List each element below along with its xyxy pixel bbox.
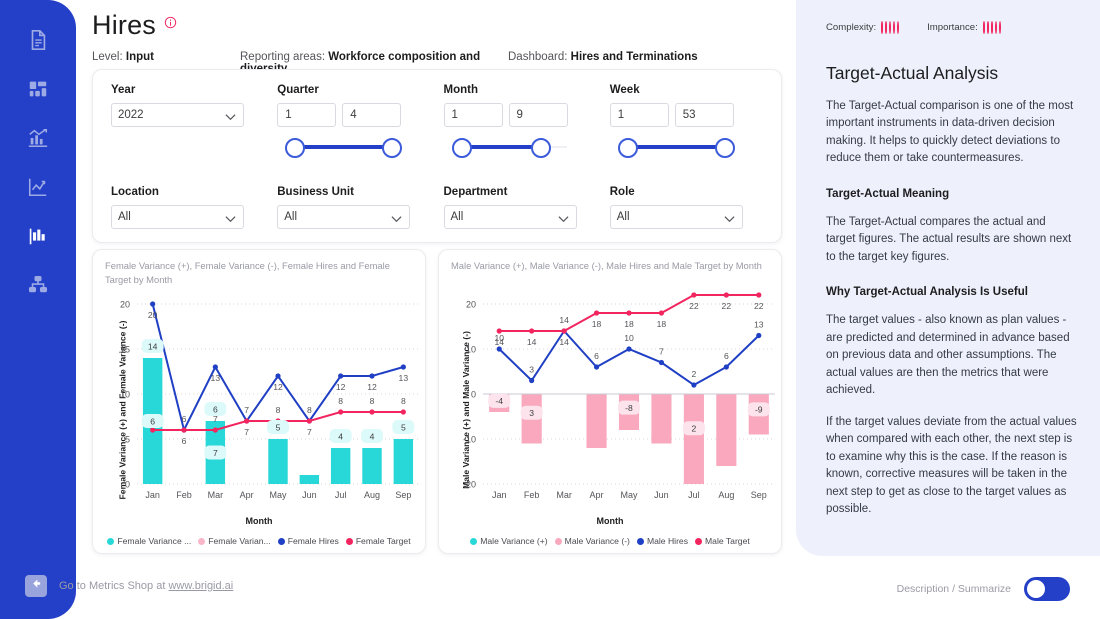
svg-text:20: 20 [466,300,476,310]
metrics-shop-link[interactable]: www.brigid.ai [168,580,233,592]
svg-text:7: 7 [307,427,312,437]
svg-text:2: 2 [691,369,696,379]
svg-text:6: 6 [594,351,599,361]
svg-text:Mar: Mar [208,490,224,500]
svg-text:6: 6 [182,436,187,446]
month-slider-knob-max[interactable] [531,138,551,158]
chevron-down-icon [225,112,236,124]
description-summarize-label: Description / Summarize [897,583,1011,595]
svg-text:Aug: Aug [718,490,734,500]
back-button[interactable] [25,575,47,597]
svg-text:Aug: Aug [364,490,380,500]
complexity-rating: Complexity: [826,22,901,33]
svg-text:Apr: Apr [240,490,254,500]
chart-card-male: Male Variance (+), Male Variance (-), Ma… [438,249,782,554]
filter-role: Role All [610,186,763,243]
metrics-shop-text: Go to Metrics Shop at www.brigid.ai [59,580,233,592]
slider-fill [462,145,541,149]
svg-text:7: 7 [659,347,664,357]
chart-title-male: Male Variance (+), Male Variance (-), Ma… [451,259,771,273]
svg-text:Feb: Feb [176,490,192,500]
legend-label: Male Hires [647,536,688,546]
rating-pip [987,21,989,34]
svg-text:May: May [269,490,287,500]
svg-text:22: 22 [754,301,764,311]
svg-text:20: 20 [148,310,158,320]
svg-text:14: 14 [559,337,569,347]
svg-text:5: 5 [401,422,406,432]
year-value: 2022 [118,109,144,121]
legend-swatch [278,538,285,545]
svg-text:4: 4 [370,431,375,441]
legend-label: Female Variance ... [117,536,191,546]
rating-pip [897,21,899,34]
filter-role-label: Role [610,186,763,198]
legend-item[interactable]: Male Variance (+) [470,536,547,546]
sidebar-item-dashboard[interactable] [16,67,60,111]
department-value: All [451,211,464,223]
filter-year: Year 2022 [111,84,264,176]
svg-text:12: 12 [367,382,377,392]
rating-pip [881,21,883,34]
svg-text:10: 10 [466,345,476,355]
sidebar [0,0,76,619]
svg-text:-20: -20 [463,480,476,490]
svg-text:Jun: Jun [654,490,669,500]
filter-year-label: Year [111,84,264,96]
legend-item[interactable]: Female Target [346,536,411,546]
complexity-pips [881,22,901,33]
slider-fill [628,145,725,149]
sidebar-item-hierarchy[interactable] [16,263,60,307]
svg-text:15: 15 [120,345,130,355]
filter-department: Department All [444,186,597,243]
panel-title: Target-Actual Analysis [826,63,1078,84]
back-arrow-icon [30,577,43,595]
chart-legend-male: Male Variance (+)Male Variance (-)Male H… [439,536,781,546]
sidebar-item-line-chart[interactable] [16,165,60,209]
svg-text:0: 0 [471,390,476,400]
legend-item[interactable]: Male Hires [637,536,688,546]
sidebar-item-document[interactable] [16,18,60,62]
sidebar-item-bar-trend[interactable] [16,116,60,160]
slider-fill [295,145,392,149]
bar-chart-icon [27,225,49,247]
legend-swatch [637,538,644,545]
week-slider-knob-min[interactable] [618,138,638,158]
year-select[interactable]: 2022 [111,103,244,127]
legend-swatch [198,538,205,545]
month-slider[interactable] [444,132,577,162]
svg-text:8: 8 [370,396,375,406]
panel-paragraph-2: The Target-Actual compares the actual an… [826,214,1078,266]
chevron-down-icon [391,214,402,226]
svg-text:5: 5 [125,435,130,445]
svg-text:-8: -8 [625,403,633,413]
info-icon[interactable] [164,16,177,34]
week-max-input[interactable]: 53 [675,103,734,127]
svg-text:10: 10 [120,390,130,400]
panel-heading-3: Why Target-Actual Analysis Is Useful [826,286,1078,298]
legend-label: Female Hires [288,536,339,546]
chart-card-female: Female Variance (+), Female Variance (-)… [92,249,426,554]
month-min-input[interactable]: 1 [444,103,503,127]
svg-text:20: 20 [120,300,130,310]
location-value: All [118,211,131,223]
metrics-shop-prefix: Go to Metrics Shop at [59,580,168,592]
legend-label: Female Target [356,536,411,546]
chart-legend-female: Female Variance ...Female Varian...Femal… [93,536,425,546]
filter-business-unit: Business Unit All [277,186,430,243]
svg-text:22: 22 [689,301,699,311]
svg-text:0: 0 [125,480,130,490]
filter-location: Location All [111,186,264,243]
filter-month-label: Month [444,84,597,96]
legend-swatch [346,538,353,545]
filter-department-label: Department [444,186,597,198]
role-value: All [617,211,630,223]
svg-text:7: 7 [213,448,218,458]
description-summarize-toggle[interactable] [1024,577,1070,601]
svg-text:10: 10 [624,333,634,343]
filter-quarter: Quarter 1 4 [277,84,430,176]
filter-business-unit-label: Business Unit [277,186,430,198]
legend-swatch [470,538,477,545]
month-max-input[interactable]: 9 [509,103,568,127]
bar-chart-trend-icon [27,127,49,149]
rating-pip [889,21,891,34]
filter-location-label: Location [111,186,264,198]
x-axis-label-female: Month [93,516,425,526]
svg-text:13: 13 [754,320,764,330]
svg-text:Sep: Sep [751,490,767,500]
quarter-slider-knob-max[interactable] [382,138,402,158]
page-title: Hires [92,10,156,41]
svg-text:14: 14 [527,337,537,347]
legend-swatch [107,538,114,545]
quarter-slider-knob-min[interactable] [285,138,305,158]
svg-text:May: May [620,490,638,500]
week-slider-knob-max[interactable] [715,138,735,158]
svg-text:7: 7 [244,427,249,437]
chevron-down-icon [225,214,236,226]
svg-text:8: 8 [401,396,406,406]
footer-right: Description / Summarize [897,577,1070,601]
filter-week-label: Week [610,84,763,96]
business-unit-value: All [284,211,297,223]
legend-swatch [695,538,702,545]
footer-left: Go to Metrics Shop at www.brigid.ai [25,575,233,597]
panel-paragraph-4: If the target values deviate from the ac… [826,414,1078,519]
svg-text:Jan: Jan [145,490,160,500]
location-select[interactable]: All [111,205,244,229]
toggle-knob [1027,580,1045,598]
legend-item[interactable]: Female Variance ... [107,536,191,546]
hierarchy-icon [27,274,49,296]
svg-text:6: 6 [213,404,218,414]
legend-label: Male Variance (+) [480,536,547,546]
filter-panel: Year 2022 Quarter 1 4 [92,69,782,243]
filter-month: Month 1 9 [444,84,597,176]
rating-pip [995,21,997,34]
x-axis-label-male: Month [439,516,781,526]
svg-text:7: 7 [244,405,249,415]
svg-text:Jul: Jul [688,490,700,500]
svg-text:6: 6 [724,351,729,361]
panel-paragraph-3: The target values - also known as plan v… [826,312,1078,399]
week-min-input[interactable]: 1 [610,103,669,127]
panel-heading-2: Target-Actual Meaning [826,188,1078,200]
legend-item[interactable]: Male Target [695,536,750,546]
filter-week: Week 1 53 [610,84,763,176]
quarter-slider[interactable] [277,132,410,162]
svg-text:13: 13 [211,373,221,383]
svg-text:18: 18 [592,319,602,329]
panel-paragraph-1: The Target-Actual comparison is one of t… [826,98,1078,168]
complexity-label: Complexity: [826,22,876,33]
chevron-down-icon [724,214,735,226]
importance-pips [983,22,1003,33]
legend-item[interactable]: Female Varian... [198,536,270,546]
quarter-max-input[interactable]: 4 [342,103,401,127]
svg-text:13: 13 [399,373,409,383]
info-panel: Complexity: Importance: Target-Actual An… [796,0,1100,556]
svg-text:Jan: Jan [492,490,507,500]
svg-text:3: 3 [529,408,534,418]
svg-text:22: 22 [722,301,732,311]
svg-text:-4: -4 [495,396,503,406]
document-icon [27,29,49,51]
svg-text:Apr: Apr [590,490,604,500]
filter-quarter-label: Quarter [277,84,430,96]
sidebar-item-bar-chart[interactable] [16,214,60,258]
svg-text:Jun: Jun [302,490,317,500]
svg-text:8: 8 [307,405,312,415]
legend-item[interactable]: Female Hires [278,536,339,546]
legend-label: Male Variance (-) [565,536,630,546]
svg-text:12: 12 [273,382,283,392]
svg-text:3: 3 [529,365,534,375]
role-select[interactable]: All [610,205,743,229]
chart-title-female: Female Variance (+), Female Variance (-)… [105,259,415,286]
svg-text:18: 18 [657,319,667,329]
chart-plot-female[interactable]: 0510152020613712712121366778888814667544… [93,290,427,510]
svg-text:6: 6 [150,416,155,426]
rating-pip [991,21,993,34]
rating-pip [885,21,887,34]
svg-text:14: 14 [148,341,158,351]
svg-text:Mar: Mar [556,490,572,500]
legend-item[interactable]: Male Variance (-) [555,536,630,546]
svg-text:18: 18 [624,319,634,329]
importance-label: Importance: [927,22,978,33]
legend-swatch [555,538,562,545]
week-slider[interactable] [610,132,743,162]
svg-text:4: 4 [338,431,343,441]
svg-text:6: 6 [182,414,187,424]
svg-text:14: 14 [494,337,504,347]
svg-text:5: 5 [276,422,281,432]
legend-label: Female Varian... [208,536,270,546]
rating-pip [983,21,985,34]
legend-label: Male Target [705,536,750,546]
svg-text:Sep: Sep [395,490,411,500]
rating-pip [999,21,1001,34]
month-slider-knob-min[interactable] [452,138,472,158]
dashboard-grid-icon [27,78,49,100]
importance-rating: Importance: [927,22,1003,33]
svg-text:Feb: Feb [524,490,540,500]
svg-text:14: 14 [559,315,569,325]
page-header: Hires Level: Input Reporting areas: Work… [92,10,782,75]
svg-text:-9: -9 [755,405,763,415]
rating-pip [893,21,895,34]
svg-text:Jul: Jul [335,490,347,500]
chevron-down-icon [558,214,569,226]
chart-plot-male[interactable]: -20-100102010314610726131414141818182222… [439,290,783,510]
svg-text:8: 8 [276,405,281,415]
svg-text:12: 12 [336,382,346,392]
quarter-min-input[interactable]: 1 [277,103,336,127]
business-unit-select[interactable]: All [277,205,410,229]
department-select[interactable]: All [444,205,577,229]
svg-text:8: 8 [338,396,343,406]
line-chart-icon [27,176,49,198]
svg-text:-10: -10 [463,435,476,445]
svg-text:2: 2 [691,424,696,434]
